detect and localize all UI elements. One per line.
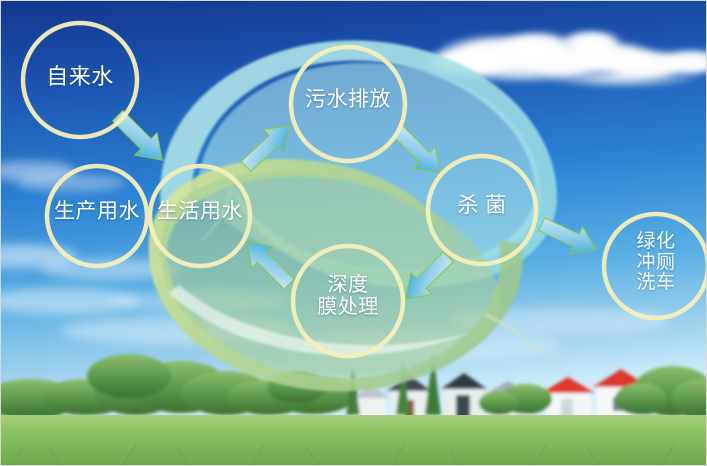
circle-tap-water[interactable] [23,23,137,137]
circle-production-water[interactable] [47,166,147,266]
circle-reuse[interactable] [604,214,707,318]
circle-membrane[interactable] [293,246,403,356]
water-cycle-diagram: 自来水 生产用水 生活用水 污水排放 杀 菌 深度 膜处理 绿化 冲厕 洗车 [0,0,707,466]
circle-domestic-water[interactable] [150,166,250,266]
circle-sterilization[interactable] [428,156,536,264]
circle-sewage-discharge[interactable] [291,47,405,161]
node-circles [1,1,707,466]
